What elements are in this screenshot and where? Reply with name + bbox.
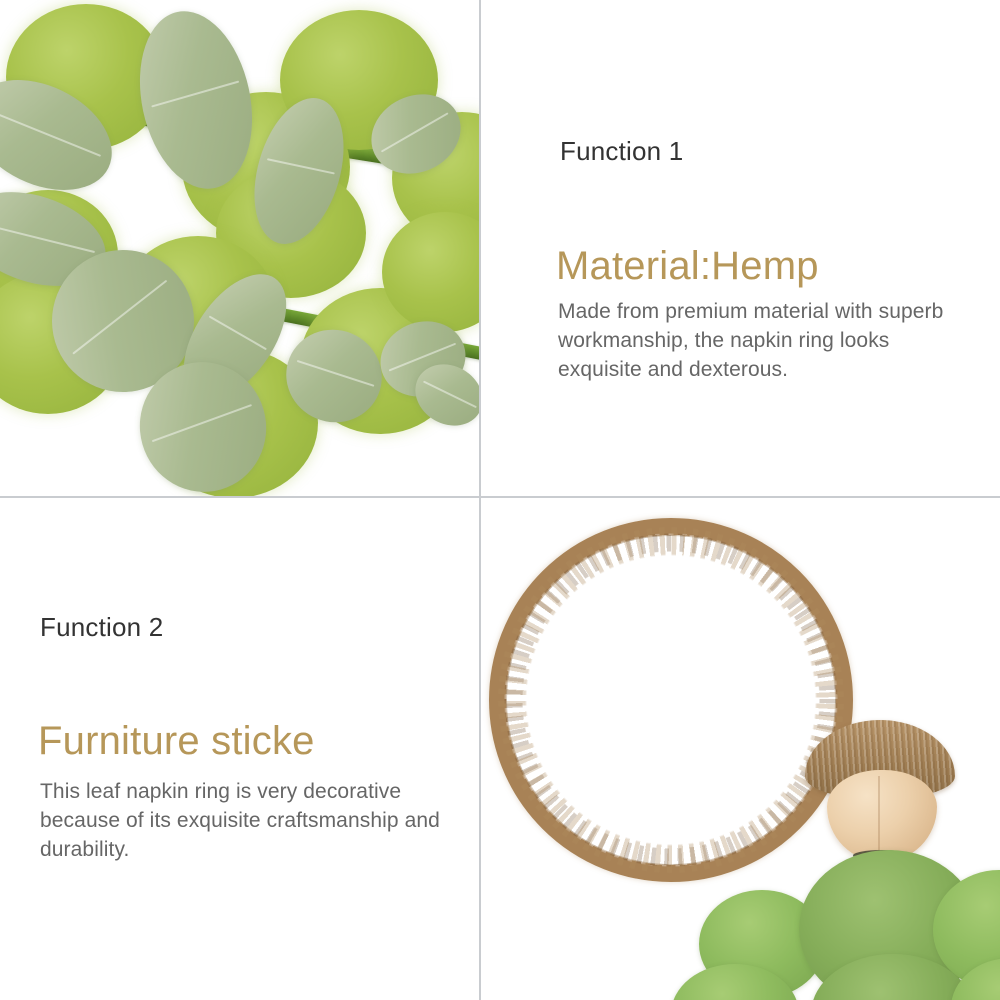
panel-top-left-photo (0, 0, 479, 496)
body-text-furniture-sticke: This leaf napkin ring is very decorative… (40, 778, 440, 865)
function-label-2: Function 2 (40, 613, 163, 642)
panel-bottom-right-photo (481, 498, 1000, 1000)
headline-material-hemp: Material:Hemp (556, 243, 819, 289)
eucalyptus-leaf-photo (0, 0, 479, 496)
headline-furniture-sticke: Furniture sticke (38, 718, 315, 764)
wooden-acorn-bead (827, 770, 937, 862)
infographic-board: Function 1 Material:Hemp Made from premi… (0, 0, 1000, 1000)
panel-top-right-text: Function 1 Material:Hemp Made from premi… (481, 0, 1000, 496)
napkin-ring-photo (481, 498, 1000, 1000)
divider-vertical (479, 0, 481, 1000)
divider-horizontal (0, 496, 1000, 498)
jute-rope-ring (489, 518, 853, 882)
body-text-material-hemp: Made from premium material with superb w… (558, 298, 958, 385)
function-label-1: Function 1 (560, 137, 683, 166)
